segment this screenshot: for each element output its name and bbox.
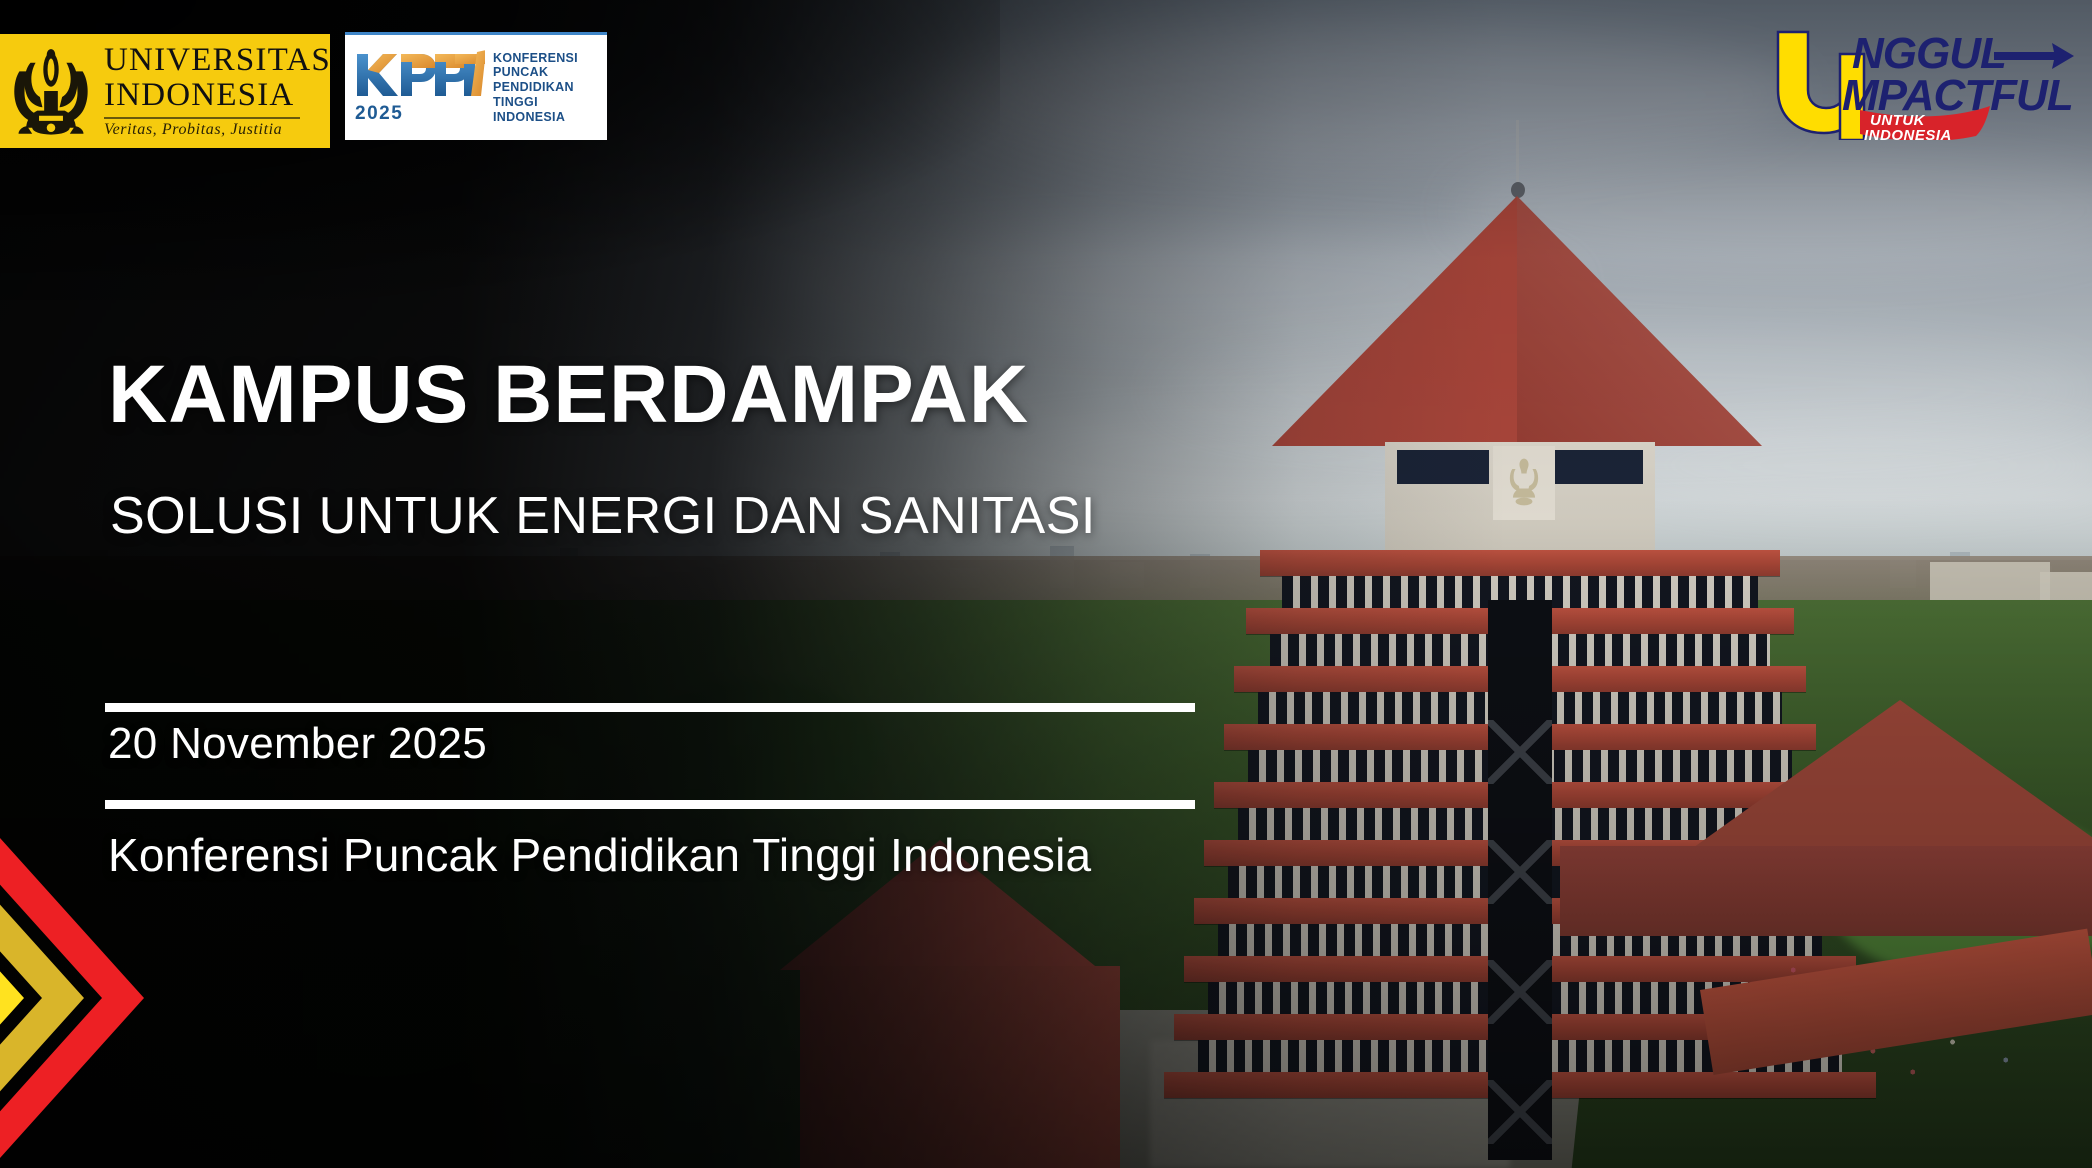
logo-unggul-impactful: NGGUL MPACTFUL UNTUK INDONESIA — [1764, 14, 2082, 140]
kppti-subtitle-line: INDONESIA — [493, 110, 578, 125]
ui-line-universitas: UNIVERSITAS — [104, 44, 331, 77]
event-date: 20 November 2025 — [108, 722, 487, 766]
background-photo — [0, 0, 2092, 1168]
ui-wordmark: UNIVERSITAS INDONESIA Veritas, Probitas,… — [104, 44, 331, 138]
kppti-wordmark-icon — [355, 50, 485, 100]
ui-divider — [104, 117, 300, 119]
logo-universitas-indonesia: UNIVERSITAS INDONESIA Veritas, Probitas,… — [0, 34, 330, 148]
divider-top — [105, 703, 1195, 712]
ui-motto: Veritas, Probitas, Justitia — [104, 122, 331, 138]
ui-line-indonesia: INDONESIA — [104, 79, 331, 112]
unggul-impactful-icon: NGGUL MPACTFUL UNTUK INDONESIA — [1764, 14, 2082, 140]
kppti-mark: 2025 — [355, 50, 485, 125]
svg-text:INDONESIA: INDONESIA — [1864, 127, 1952, 140]
kppti-subtitle-line: PENDIDIKAN — [493, 80, 578, 95]
event-name: Konferensi Puncak Pendidikan Tinggi Indo… — [108, 832, 1091, 878]
page-subtitle: SOLUSI UNTUK ENERGI DAN SANITASI — [110, 490, 1096, 542]
makara-ui-emblem-icon — [8, 44, 94, 138]
kppti-subtitle: KONFERENSI PUNCAK PENDIDIKAN TINGGI INDO… — [493, 51, 578, 125]
divider-bottom — [105, 800, 1195, 809]
presentation-slide: UNIVERSITAS INDONESIA Veritas, Probitas,… — [0, 0, 2092, 1168]
logo-kppti: 2025 KONFERENSI PUNCAK PENDIDIKAN TINGGI… — [345, 32, 607, 140]
page-title: KAMPUS BERDAMPAK — [108, 354, 1029, 436]
kppti-year: 2025 — [355, 103, 485, 125]
kppti-subtitle-line: KONFERENSI — [493, 51, 578, 66]
kppti-subtitle-line: PUNCAK — [493, 65, 578, 80]
kppti-subtitle-line: TINGGI — [493, 95, 578, 110]
